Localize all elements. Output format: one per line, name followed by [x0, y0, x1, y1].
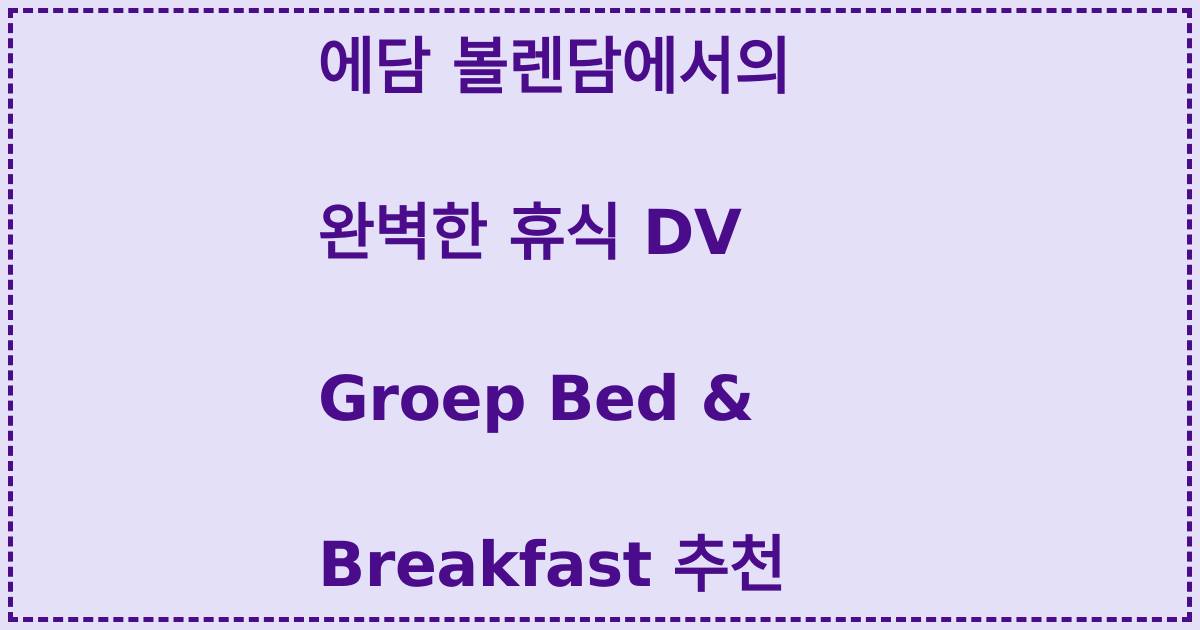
- headline-container: 에담 볼렌담에서의 완벽한 휴식 DV Groep Bed & Breakfas…: [0, 0, 1200, 630]
- headline-line-1: 에담 볼렌담에서의: [318, 25, 791, 108]
- headline-line-2: 완벽한 휴식 DV: [318, 191, 791, 274]
- headline-line-4: Breakfast 추천: [318, 523, 791, 606]
- og-image-card: 에담 볼렌담에서의 완벽한 휴식 DV Groep Bed & Breakfas…: [0, 0, 1200, 630]
- page-title: 에담 볼렌담에서의 완벽한 휴식 DV Groep Bed & Breakfas…: [318, 0, 791, 630]
- headline-line-3: Groep Bed &: [318, 357, 791, 440]
